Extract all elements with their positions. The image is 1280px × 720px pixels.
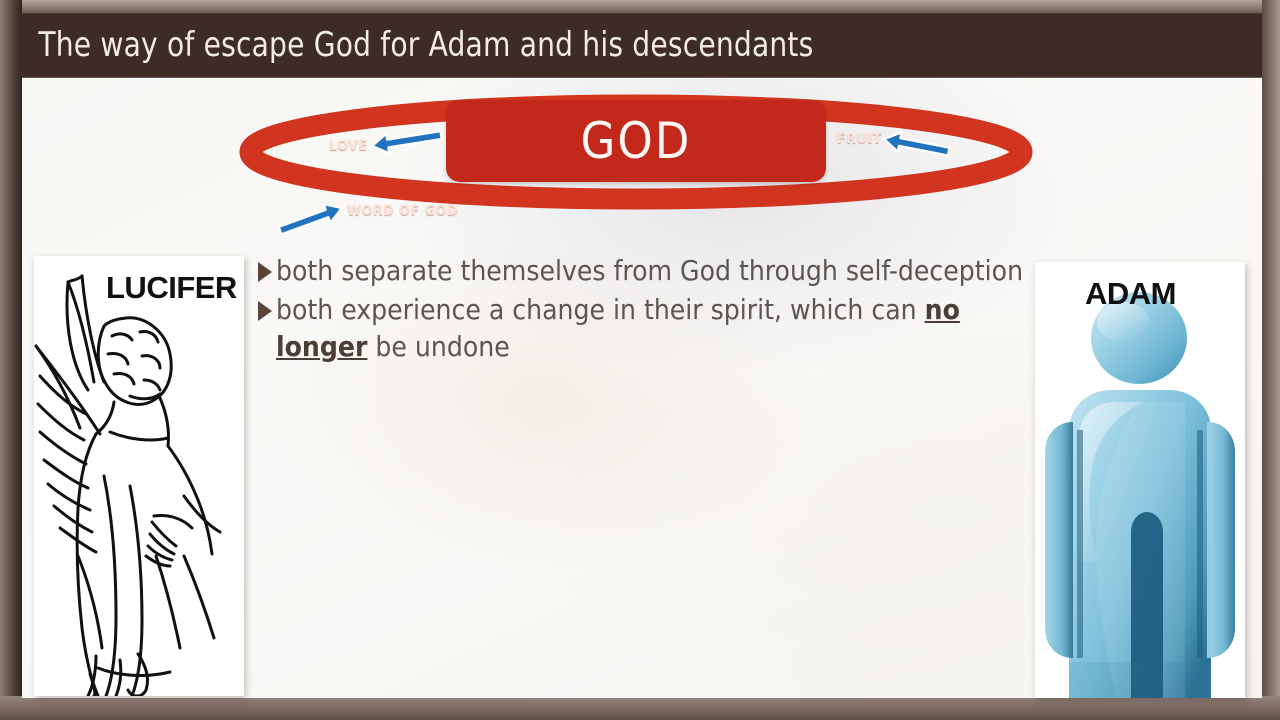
diagram-label-word-of-god: WORD OF GOD <box>347 203 458 219</box>
figure-left-arm <box>1045 422 1073 658</box>
diagram-label-love: LOVE <box>329 138 368 154</box>
bullet-2-text-before: both experience a change in their spirit… <box>276 293 925 326</box>
bullet-list: both separate themselves from God throug… <box>258 252 1028 367</box>
page-title: The way of escape God for Adam and his d… <box>20 25 813 65</box>
list-item: both experience a change in their spirit… <box>258 291 1028 365</box>
bullet-1-text: both separate themselves from God throug… <box>276 254 1023 287</box>
slide-frame-bottom <box>0 696 1280 720</box>
presentation-slide: The way of escape God for Adam and his d… <box>0 0 1280 720</box>
slide-frame-right <box>1262 0 1280 720</box>
slide-frame-top <box>0 0 1280 14</box>
bullet-2-text-after: be undone <box>367 330 509 363</box>
list-item: both separate themselves from God throug… <box>258 252 1028 289</box>
god-label: GOD <box>581 112 692 170</box>
angel-line-drawing-icon <box>34 256 244 696</box>
slide-frame-left <box>0 0 22 720</box>
panel-caption-lucifer: LUCIFER <box>106 270 237 306</box>
panel-caption-adam: ADAM <box>1085 276 1176 312</box>
image-panel-lucifer: LUCIFER <box>34 256 244 696</box>
diagram-label-fruit: FRUIT <box>837 131 882 147</box>
bullet-text-1: both separate themselves from God throug… <box>276 252 1023 289</box>
triangle-bullet-icon <box>258 301 272 321</box>
bullet-text-2: both experience a change in their spirit… <box>276 291 1028 365</box>
god-center-box: GOD <box>446 100 826 182</box>
slide-title-bar: The way of escape God for Adam and his d… <box>20 13 1262 77</box>
blue-human-figure-icon <box>1035 262 1245 698</box>
triangle-bullet-icon <box>258 262 272 282</box>
image-panel-adam: ADAM <box>1035 262 1245 698</box>
figure-right-arm <box>1207 422 1235 658</box>
